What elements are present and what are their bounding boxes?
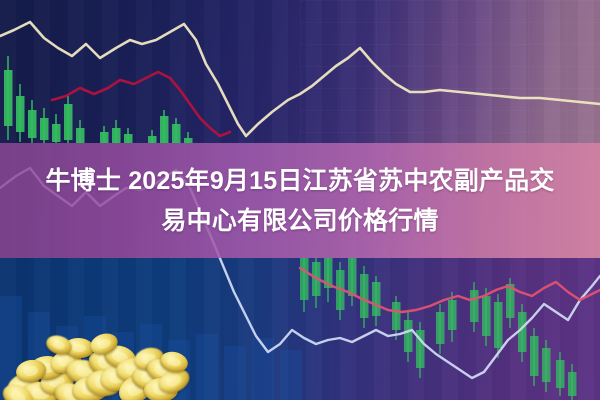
title-line-2: 易中心有限公司价格行情 — [161, 201, 438, 241]
banner-image: 牛博士 2025年9月15日江苏省苏中农副产品交 易中心有限公司价格行情 — [0, 0, 600, 400]
gold-coin-pile — [0, 330, 210, 400]
title-banner: 牛博士 2025年9月15日江苏省苏中农副产品交 易中心有限公司价格行情 — [0, 143, 600, 258]
title-line-1: 牛博士 2025年9月15日江苏省苏中农副产品交 — [45, 161, 554, 201]
